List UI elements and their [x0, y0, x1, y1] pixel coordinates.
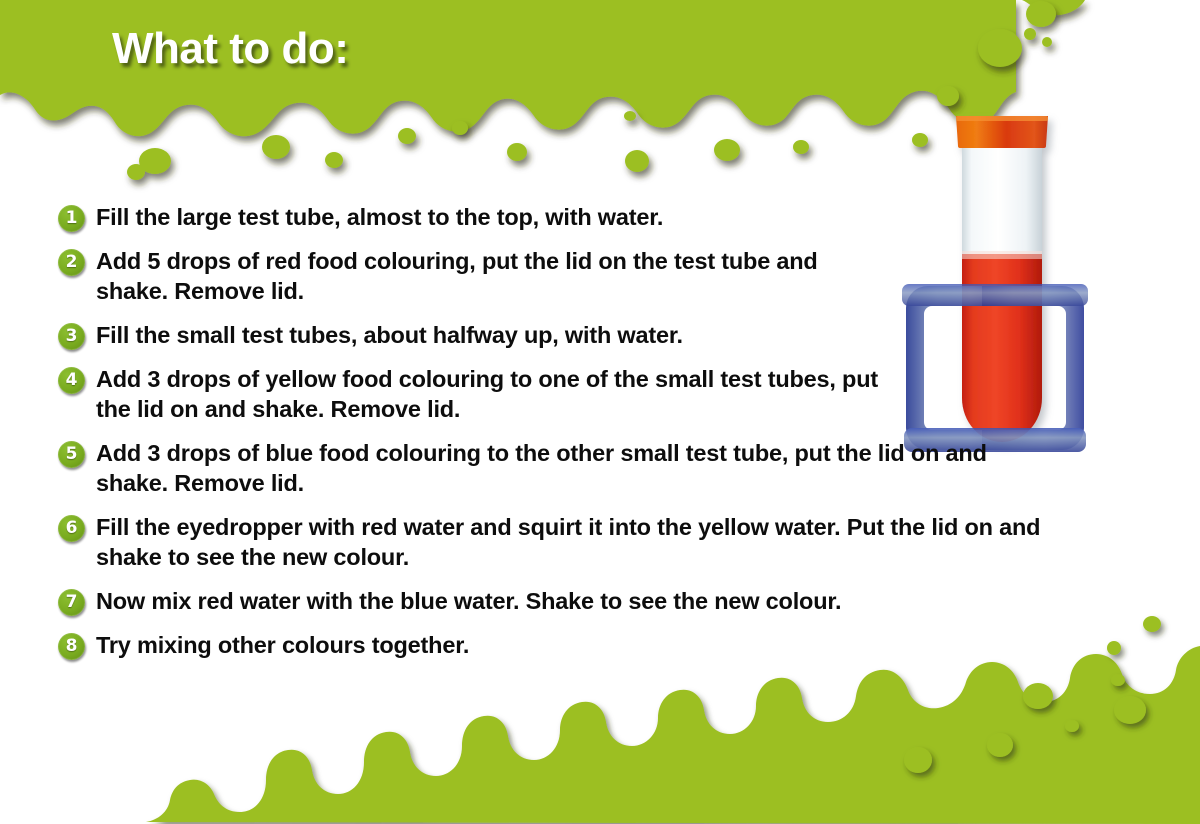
step-text: Fill the large test tube, almost to the … [96, 202, 1096, 232]
step-number-badge: 2 [58, 249, 85, 276]
step-number-badge: 1 [58, 205, 85, 232]
step-text: Add 3 drops of blue food colouring to th… [96, 438, 1016, 498]
step-text: Fill the eyedropper with red water and s… [96, 512, 1086, 572]
step-text: Fill the small test tubes, about halfway… [96, 320, 1096, 350]
step-number-badge: 3 [58, 323, 85, 350]
list-item: 4 Add 3 drops of yellow food colouring t… [58, 364, 1118, 424]
list-item: 3 Fill the small test tubes, about halfw… [58, 320, 1118, 350]
list-item: 2 Add 5 drops of red food colouring, put… [58, 246, 1118, 306]
step-text: Now mix red water with the blue water. S… [96, 586, 1096, 616]
step-number-badge: 4 [58, 367, 85, 394]
step-number-badge: 7 [58, 589, 85, 616]
list-item: 5 Add 3 drops of blue food colouring to … [58, 438, 1118, 498]
list-item: 8 Try mixing other colours together. [58, 630, 1118, 660]
step-text: Add 5 drops of red food colouring, put t… [96, 246, 856, 306]
step-number-badge: 5 [58, 441, 85, 468]
step-text: Add 3 drops of yellow food colouring to … [96, 364, 886, 424]
poster-page: What to do: [0, 0, 1200, 824]
list-item: 7 Now mix red water with the blue water.… [58, 586, 1118, 616]
instruction-list: 1 Fill the large test tube, almost to th… [58, 202, 1118, 674]
page-title: What to do: [112, 24, 348, 74]
list-item: 1 Fill the large test tube, almost to th… [58, 202, 1118, 232]
step-text: Try mixing other colours together. [96, 630, 1096, 660]
list-item: 6 Fill the eyedropper with red water and… [58, 512, 1118, 572]
step-number-badge: 6 [58, 515, 85, 542]
step-number-badge: 8 [58, 633, 85, 660]
